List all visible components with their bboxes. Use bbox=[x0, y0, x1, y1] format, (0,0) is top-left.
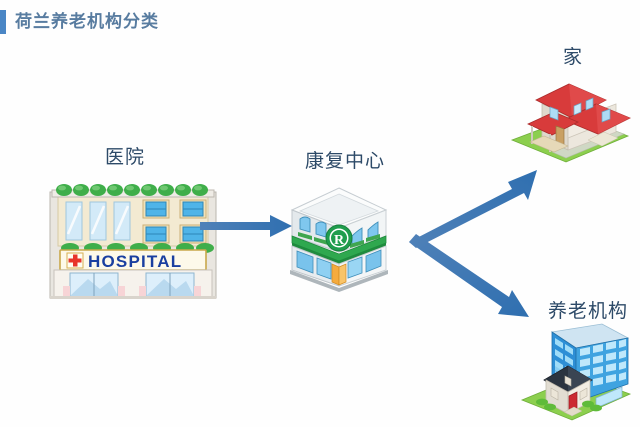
node-label-home: 家 bbox=[563, 42, 583, 69]
nursing-home-icon bbox=[516, 322, 636, 424]
page-title: 荷兰养老机构分类 bbox=[15, 10, 159, 34]
hospital-sign-text: HOSPITAL bbox=[88, 252, 182, 271]
hospital-building-icon: HOSPITAL bbox=[48, 182, 218, 300]
node-label-rehab: 康复中心 bbox=[305, 146, 385, 173]
arrow-hospital-to-rehab bbox=[198, 208, 296, 244]
house-icon bbox=[506, 74, 632, 164]
node-label-nursing: 养老机构 bbox=[548, 296, 628, 323]
page-title-block: 荷兰养老机构分类 bbox=[0, 9, 159, 35]
node-label-hospital: 医院 bbox=[105, 142, 145, 169]
title-accent-bar bbox=[0, 10, 6, 34]
arrow-rehab-to-home bbox=[409, 170, 537, 248]
rehabilitation-center-building-icon: R bbox=[286, 186, 392, 292]
arrow-rehab-to-nursing bbox=[409, 234, 529, 317]
red-cross-icon bbox=[67, 253, 83, 268]
rehab-sign-text: R bbox=[334, 233, 345, 248]
arrow-branch-rehab-to-outcomes bbox=[404, 162, 552, 330]
